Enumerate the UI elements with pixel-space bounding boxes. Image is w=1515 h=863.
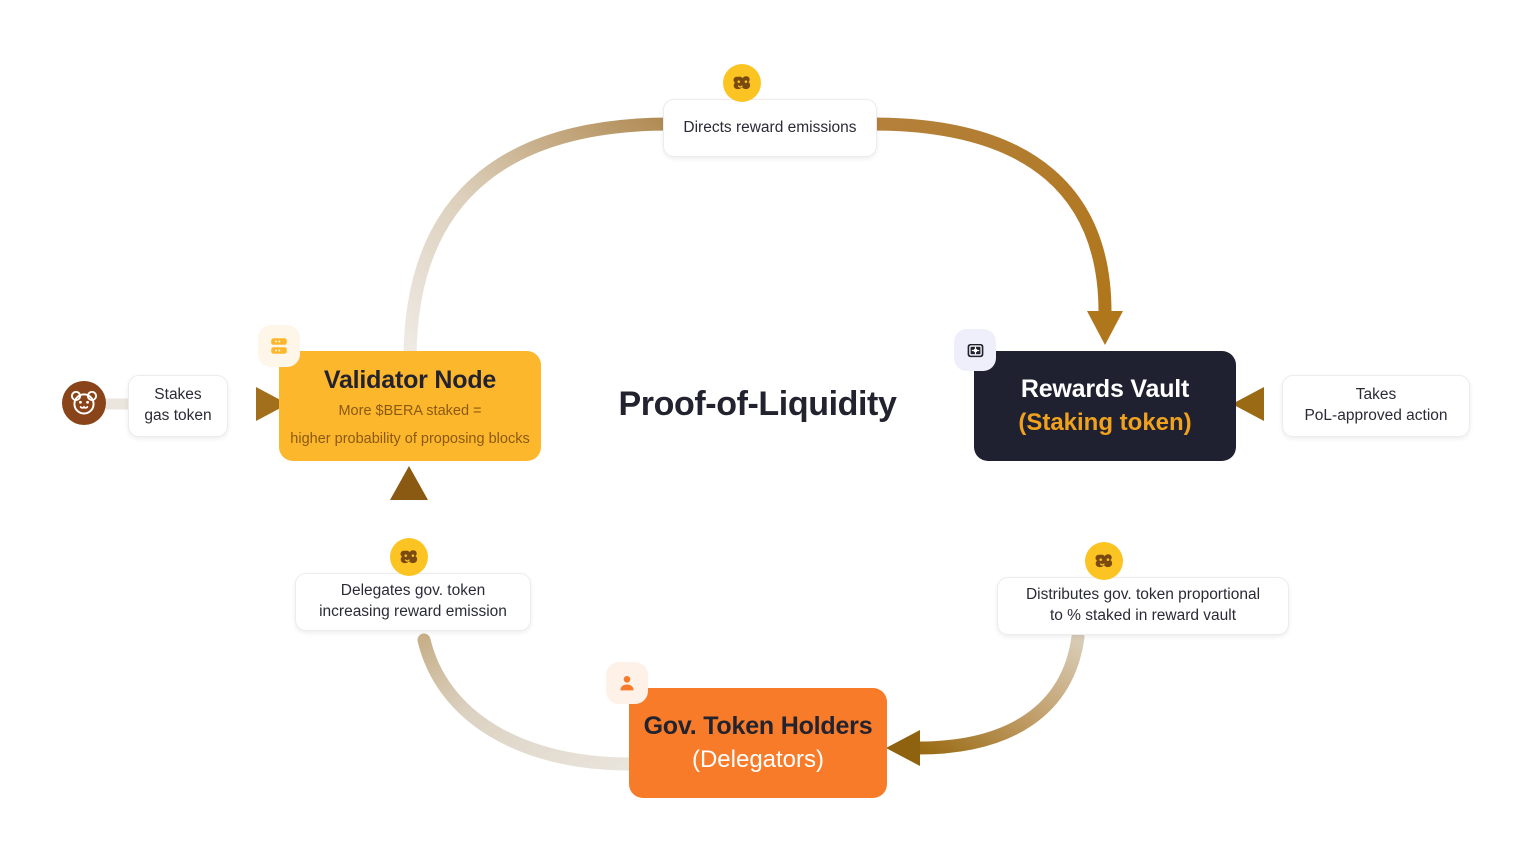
bear-face-avatar — [62, 381, 106, 425]
rewards-vault-badge — [954, 329, 996, 371]
validator-node-title: Validator Node — [324, 368, 496, 393]
node-gov-token-holders[interactable]: Gov. Token Holders (Delegators) — [629, 688, 887, 798]
bera-bear-coin-icon — [1092, 549, 1116, 573]
label-distributes-line-2: to % staked in reward vault — [1026, 606, 1260, 627]
user-icon — [616, 672, 638, 694]
diagram-canvas: Proof-of-Liquidity Validator Node More $… — [0, 0, 1515, 863]
gov-holders-badge — [606, 662, 648, 704]
arc-validator-to-directs-label — [410, 124, 670, 360]
gov-holders-title: Gov. Token Holders — [644, 714, 873, 739]
arrowhead-into-validator-node — [390, 466, 428, 500]
label-distributes-line-1: Distributes gov. token proportional — [1026, 585, 1260, 606]
validator-node-badge — [258, 325, 300, 367]
arc-distributes-to-gov-holders — [918, 637, 1078, 748]
label-takes-line-2: PoL-approved action — [1304, 406, 1447, 427]
rewards-vault-subtitle: (Staking token) — [1018, 411, 1191, 435]
gov-holders-subtitle: (Delegators) — [692, 748, 824, 772]
bera-coin-marker-left — [390, 538, 428, 576]
bera-bear-coin-icon — [397, 545, 421, 569]
rewards-vault-title: Rewards Vault — [1021, 377, 1189, 402]
validator-node-subtitle-1: More $BERA staked = — [338, 404, 481, 419]
arc-directs-label-to-vault — [872, 124, 1105, 312]
label-distributes-gov-token: Distributes gov. token proportional to %… — [997, 577, 1289, 635]
label-delegates-line-1: Delegates gov. token — [319, 581, 507, 602]
vault-icon — [965, 340, 986, 361]
arrowhead-into-gov-holders — [886, 730, 920, 766]
server-icon — [268, 335, 290, 357]
node-rewards-vault[interactable]: Rewards Vault (Staking token) — [974, 351, 1236, 461]
bera-coin-marker-right — [1085, 542, 1123, 580]
node-validator[interactable]: Validator Node More $BERA staked = highe… — [279, 351, 541, 461]
label-directs-reward-emissions: Directs reward emissions — [663, 99, 877, 157]
bear-face-icon — [69, 388, 99, 418]
label-takes-line-1: Takes — [1304, 385, 1447, 406]
label-delegates-line-2: increasing reward emission — [319, 602, 507, 623]
bera-bear-coin-icon — [730, 71, 754, 95]
label-stakes-line-2: gas token — [144, 406, 211, 427]
label-delegates-gov-token: Delegates gov. token increasing reward e… — [295, 573, 531, 631]
arc-gov-holders-to-delegates-label — [424, 640, 629, 764]
label-takes-pol-approved-action: Takes PoL-approved action — [1282, 375, 1470, 437]
label-stakes-gas-token: Stakes gas token — [128, 375, 228, 437]
label-stakes-line-1: Stakes — [144, 385, 211, 406]
arrowhead-into-rewards-vault — [1087, 311, 1123, 345]
validator-node-subtitle-2: higher probability of proposing blocks — [290, 432, 529, 447]
bera-coin-marker-top — [723, 64, 761, 102]
label-directs-text: Directs reward emissions — [683, 118, 856, 139]
